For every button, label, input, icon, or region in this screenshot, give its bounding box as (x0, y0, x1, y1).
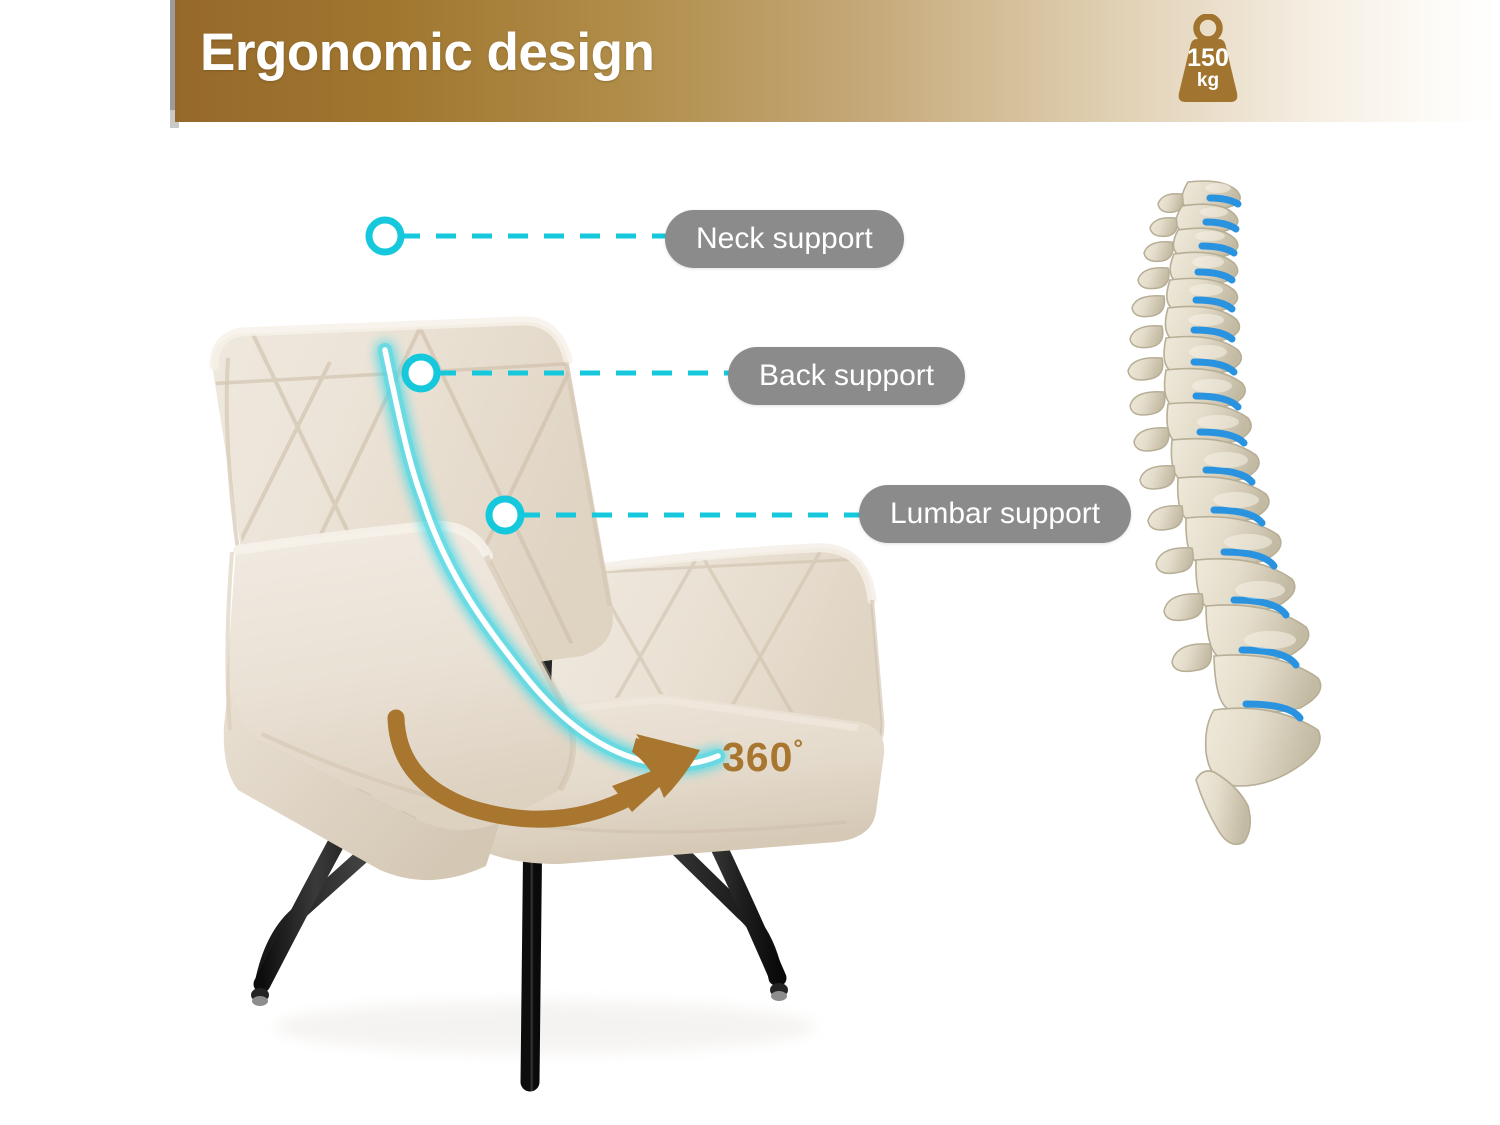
callout-pill-neck[interactable]: Neck support (665, 210, 904, 268)
chair-graphic (160, 321, 884, 1082)
rotation-label: 360° (722, 734, 804, 781)
product-illustration (0, 122, 1500, 1125)
callout-node-lumbar[interactable] (489, 499, 521, 531)
page-title: Ergonomic design (200, 26, 654, 79)
degree-symbol: ° (793, 735, 804, 762)
callout-node-back[interactable] (405, 357, 437, 389)
weight-capacity-badge: 150 kg (1172, 14, 1244, 110)
weight-unit: kg (1172, 72, 1244, 91)
callout-node-neck[interactable] (369, 220, 401, 252)
rotation-value: 360 (722, 734, 793, 780)
callout-pill-lumbar[interactable]: Lumbar support (859, 485, 1131, 543)
weight-capacity-text: 150 kg (1172, 46, 1244, 90)
illustration-stage: Neck support Back support Lumbar support… (0, 122, 1500, 1125)
weight-value: 150 (1172, 46, 1244, 71)
spine-illustration (1128, 181, 1321, 844)
callout-pill-back[interactable]: Back support (728, 347, 965, 405)
